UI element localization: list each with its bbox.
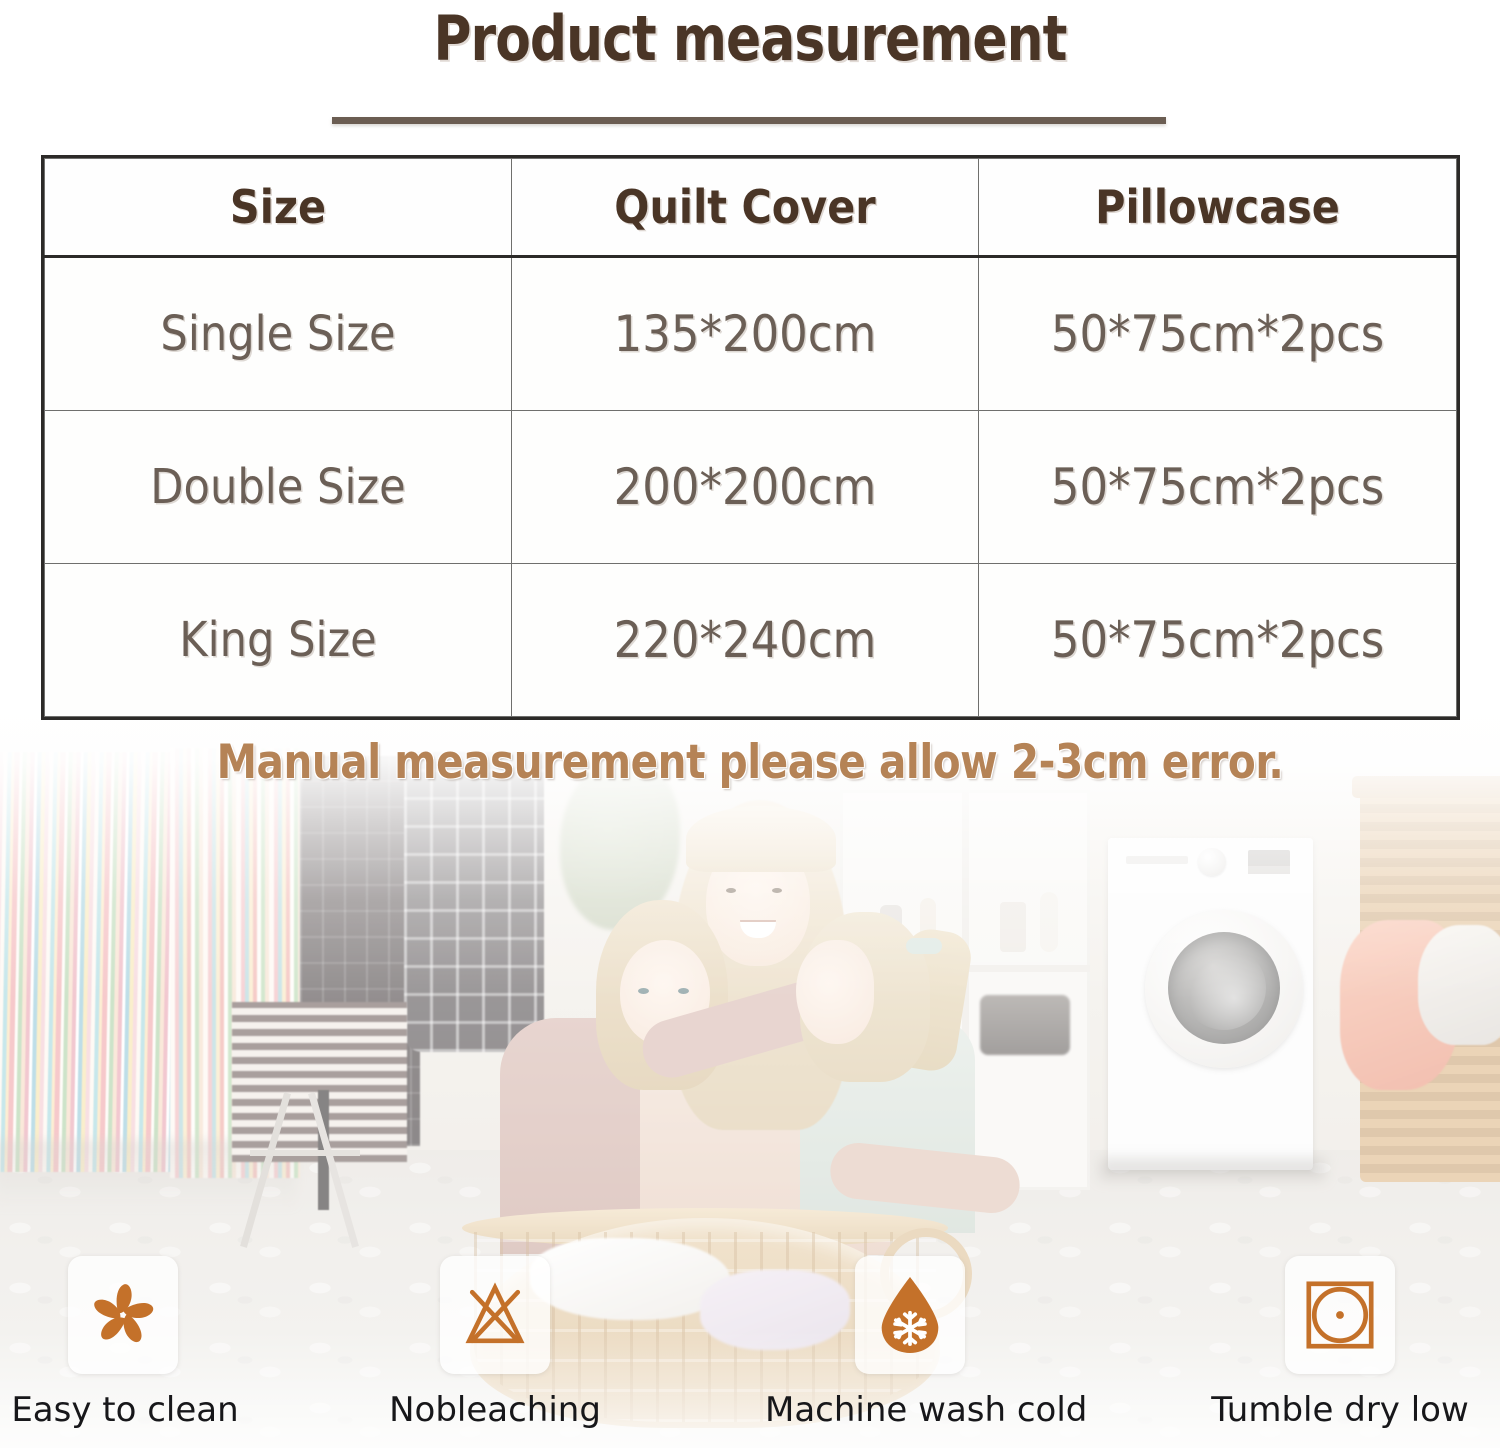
measurement-note: Manual measurement please allow 2-3cm er… — [30, 735, 1470, 790]
care-label: Machine wash cold — [765, 1390, 1055, 1430]
care-icon-tile — [440, 1256, 550, 1374]
care-item-machine-wash-cold: Machine wash cold — [765, 1256, 1055, 1430]
no-bleach-icon — [455, 1277, 535, 1353]
title-divider — [332, 117, 1166, 124]
pinwheel-icon — [85, 1277, 161, 1353]
table-row: King Size 220*240cm 50*75cm*2pcs — [45, 564, 1457, 717]
table-row: Double Size 200*200cm 50*75cm*2pcs — [45, 411, 1457, 564]
cell-size: Double Size — [45, 411, 512, 564]
care-icon-tile — [68, 1256, 178, 1374]
cell-quilt: 220*240cm — [512, 564, 979, 717]
care-item-no-bleaching: Nobleaching — [350, 1256, 640, 1430]
cell-pillowcase: 50*75cm*2pcs — [979, 257, 1457, 411]
measurement-table: Size Quilt Cover Pillowcase Single Size … — [44, 158, 1457, 717]
column-header-size: Size — [45, 159, 512, 257]
table-header-row: Size Quilt Cover Pillowcase — [45, 159, 1457, 257]
cell-size: Single Size — [45, 257, 512, 411]
tumble-dry-icon — [1301, 1276, 1379, 1354]
cell-quilt: 135*200cm — [512, 257, 979, 411]
cell-pillowcase: 50*75cm*2pcs — [979, 411, 1457, 564]
care-label: Nobleaching — [350, 1390, 640, 1430]
cell-size: King Size — [45, 564, 512, 717]
care-label: Easy to clean — [0, 1390, 270, 1430]
care-label: Tumble dry low — [1195, 1390, 1485, 1430]
column-header-pillowcase: Pillowcase — [979, 159, 1457, 257]
column-header-quilt: Quilt Cover — [512, 159, 979, 257]
care-icon-tile — [1285, 1256, 1395, 1374]
care-icon-tile — [855, 1256, 965, 1374]
care-item-tumble-dry-low: Tumble dry low — [1195, 1256, 1485, 1430]
page-title: Product measurement — [53, 2, 1448, 75]
care-instructions: Easy to clean Nobleaching — [0, 1256, 1500, 1448]
cell-pillowcase: 50*75cm*2pcs — [979, 564, 1457, 717]
care-item-easy-to-clean: Easy to clean — [0, 1256, 270, 1430]
cold-wash-icon — [872, 1274, 948, 1356]
cell-quilt: 200*200cm — [512, 411, 979, 564]
table-row: Single Size 135*200cm 50*75cm*2pcs — [45, 257, 1457, 411]
